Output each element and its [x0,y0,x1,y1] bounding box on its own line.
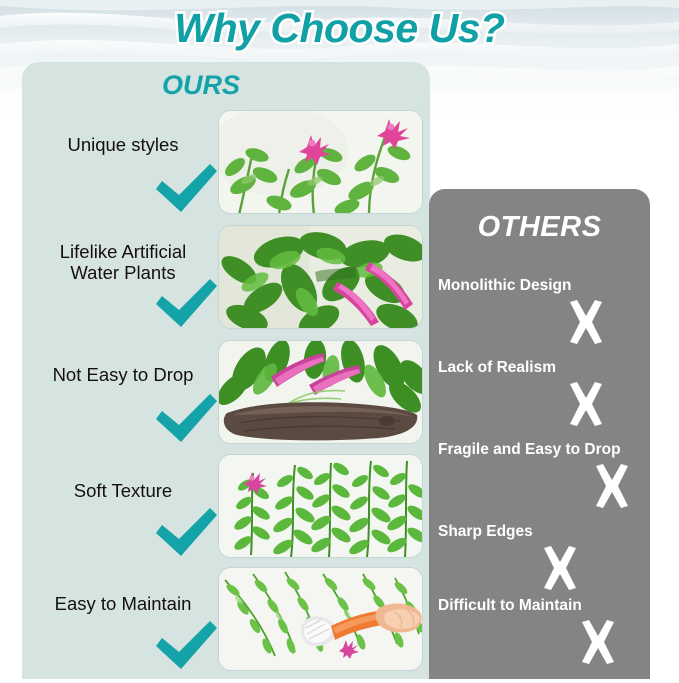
ours-row: Easy to Maintain [22,567,430,683]
cross-icon [589,463,635,509]
ours-item-photo [218,110,423,214]
ours-row: Not Easy to Drop [22,340,430,456]
page-title: Why Choose Us? [0,5,679,52]
check-icon [152,506,220,558]
others-item-label: Sharp Edges [438,523,646,541]
plants-on-brown-driftwood-base-photo [219,341,423,444]
ours-row: Soft Texture [22,454,430,570]
others-item-label: Fragile and Easy to Drop [438,441,646,459]
dense-green-foliage-pink-spike-flowers-photo [219,226,423,329]
cross-icon [537,545,583,591]
cross-icon [563,299,609,345]
ours-row: Lifelike Artificial Water Plants [22,225,430,341]
check-icon [152,392,220,444]
others-panel-title: OTHERS [429,211,650,244]
ours-item-photo [218,340,423,444]
ours-item-label: Easy to Maintain [28,593,218,614]
green-plant-stems-row-photo [219,455,423,558]
ours-item-label: Soft Texture [28,480,218,501]
check-icon [152,619,220,671]
ours-item-label: Unique styles [28,134,218,155]
check-icon [152,277,220,329]
hand-brushing-plant-vines-photo [219,568,423,671]
cross-icon [575,619,621,665]
check-icon [152,162,220,214]
ours-item-label: Not Easy to Drop [28,364,218,385]
others-panel: OTHERS Monolithic Design Lack of Realism… [429,189,650,679]
others-item-label: Lack of Realism [438,359,646,377]
ours-item-photo [218,225,423,329]
ours-panel-title: OURS [0,70,405,101]
others-item-label: Monolithic Design [438,277,646,295]
ours-row: Unique styles [22,110,430,226]
others-item-label: Difficult to Maintain [438,597,646,615]
ours-item-photo [218,567,423,671]
ours-item-photo [218,454,423,558]
ours-panel: OURS Unique styles [22,62,430,679]
green-plants-with-pink-flowers-photo [219,111,423,214]
cross-icon [563,381,609,427]
